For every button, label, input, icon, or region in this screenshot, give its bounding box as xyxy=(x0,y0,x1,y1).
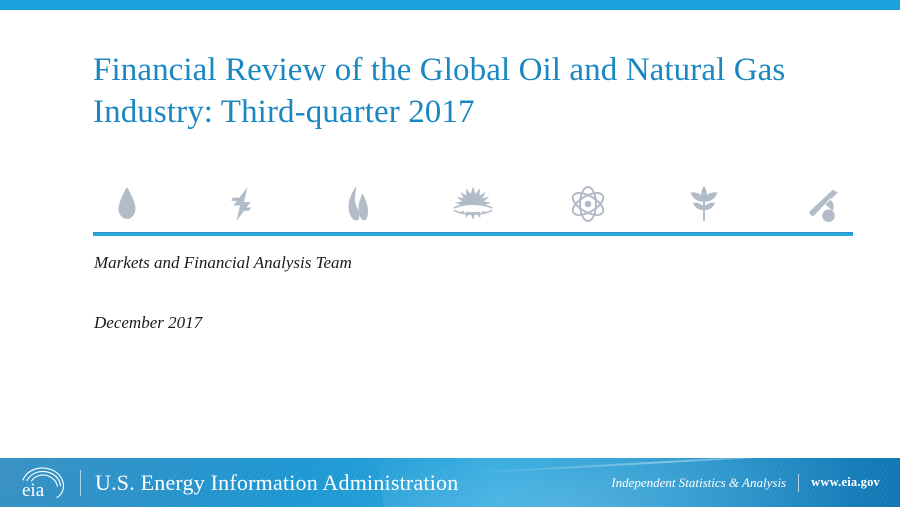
eia-logo-icon: eia xyxy=(18,463,70,503)
plant-icon xyxy=(682,182,726,226)
atom-icon xyxy=(566,182,610,226)
page-title: Financial Review of the Global Oil and N… xyxy=(93,49,853,133)
byline-block: Markets and Financial Analysis Team Dece… xyxy=(94,252,694,334)
top-accent-bar xyxy=(0,0,900,10)
footer-right-group: Independent Statistics & Analysis www.ei… xyxy=(611,458,880,507)
footer-logo-divider xyxy=(80,470,81,496)
petroleum-drop-icon xyxy=(105,182,149,226)
page-title-line-1: Financial Review of the Global Oil and N… xyxy=(93,52,785,88)
agency-name: U.S. Energy Information Administration xyxy=(95,470,458,496)
author-team: Markets and Financial Analysis Team xyxy=(94,252,694,274)
footer-bar: eia U.S. Energy Information Administrati… xyxy=(0,458,900,507)
title-divider-rule xyxy=(93,232,853,236)
footer-web-url[interactable]: www.eia.gov xyxy=(811,475,880,490)
title-block: Financial Review of the Global Oil and N… xyxy=(93,49,853,133)
publication-date: December 2017 xyxy=(94,312,694,334)
flame-icon xyxy=(336,182,380,226)
slide-canvas: Financial Review of the Global Oil and N… xyxy=(0,0,900,507)
footer-left-group: eia U.S. Energy Information Administrati… xyxy=(18,458,458,507)
footer-tagline: Independent Statistics & Analysis xyxy=(611,475,786,491)
lightning-bolt-icon xyxy=(220,182,264,226)
pickaxe-icon xyxy=(797,182,841,226)
page-title-line-2: Industry: Third-quarter 2017 xyxy=(93,94,475,130)
svg-text:eia: eia xyxy=(22,480,45,501)
energy-icon-strip xyxy=(93,180,853,228)
footer-tagline-divider xyxy=(798,474,799,492)
sun-icon xyxy=(451,182,495,226)
